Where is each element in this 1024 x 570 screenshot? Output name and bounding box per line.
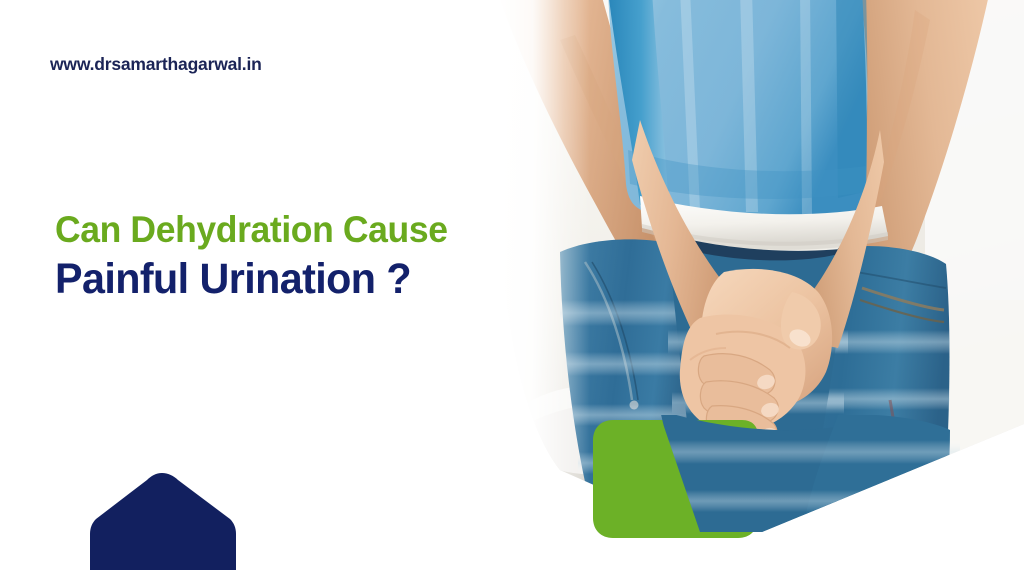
site-url-text: www.drsamarthagarwal.in — [50, 54, 262, 75]
headline-line-2: Painful Urination ? — [55, 253, 506, 305]
headline-line-1: Can Dehydration Cause — [55, 207, 506, 253]
headline-block: Can Dehydration Cause Painful Urination … — [55, 207, 525, 305]
banner-canvas: www.drsamarthagarwal.in Can Dehydration … — [0, 0, 1024, 570]
